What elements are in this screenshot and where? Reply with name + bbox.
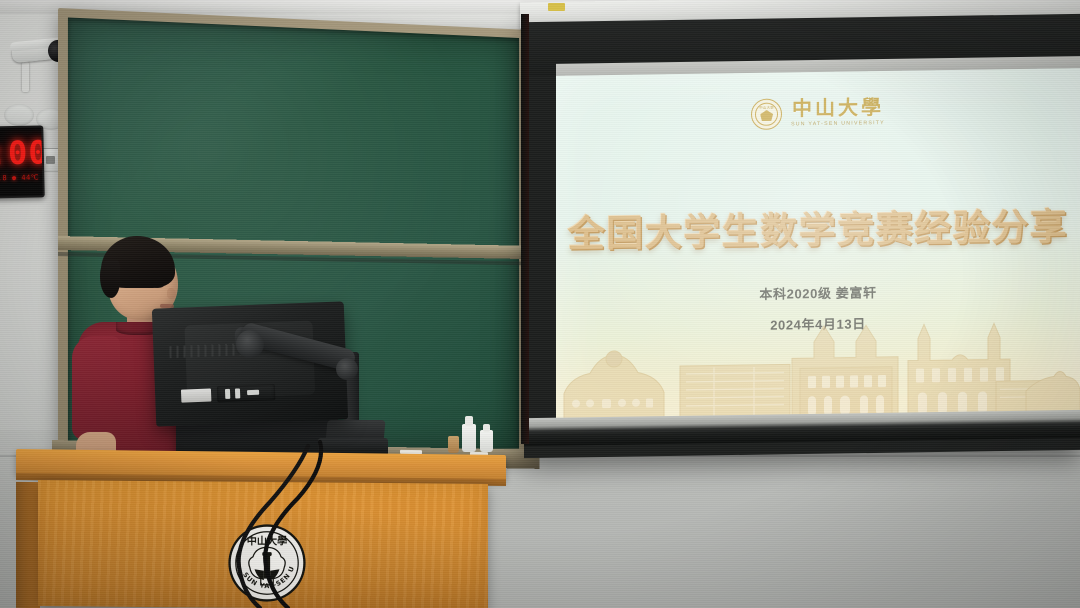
lectern-side-panel	[16, 482, 40, 608]
screen-left-border	[521, 14, 529, 444]
bottle-cap	[483, 424, 490, 432]
seal-top-text: 中山大學	[759, 104, 774, 109]
logo-wordmark: 中山大學 SUN YAT-SEN UNIVERSITY	[791, 98, 885, 128]
monitor-port-bay	[217, 384, 276, 402]
campus-skyline-illustration	[556, 308, 1080, 420]
housing-sticker	[548, 3, 565, 11]
lecture-hall-scene: :00 14.8 ● 44℃ 中山大學 中山大學 SUN YAT-SEN UNI…	[0, 0, 1080, 608]
led-wall-clock: :00 14.8 ● 44℃	[0, 125, 45, 198]
clock-digits: :00	[0, 135, 42, 170]
power-cable	[120, 440, 350, 608]
presenter-nose	[167, 288, 176, 299]
monitor-arm-joint[interactable]	[336, 358, 358, 380]
monitor-arm-joint[interactable]	[236, 330, 264, 358]
sysu-logo: 中山大學 中山大學 SUN YAT-SEN UNIVERSITY	[556, 94, 1080, 133]
bottle-cap	[465, 416, 473, 426]
presenter-hair-side	[100, 260, 120, 298]
slide-presenter: 本科2020级 姜富轩	[556, 279, 1080, 306]
presenter-sleeve	[72, 336, 120, 440]
logo-name-en: SUN YAT-SEN UNIVERSITY	[791, 121, 885, 128]
seal-emblem-shape	[760, 110, 773, 121]
wall-speaker-plate	[4, 104, 34, 126]
projection-screen[interactable]: 中山大學 中山大學 SUN YAT-SEN UNIVERSITY 全国大学生数学…	[556, 68, 1080, 420]
slide-title: 全国大学生数学竞赛经验分享	[556, 196, 1080, 258]
clock-subtext: 14.8 ● 44℃	[0, 173, 42, 182]
camera-bracket	[22, 62, 29, 92]
sysu-seal-icon: 中山大學	[751, 99, 782, 130]
amber-bottle[interactable]	[448, 436, 459, 453]
logo-name-cn: 中山大學	[792, 98, 884, 119]
sanitizer-bottle[interactable]	[462, 424, 476, 452]
monitor-spec-label	[181, 389, 211, 403]
spray-bottle[interactable]	[480, 430, 493, 452]
